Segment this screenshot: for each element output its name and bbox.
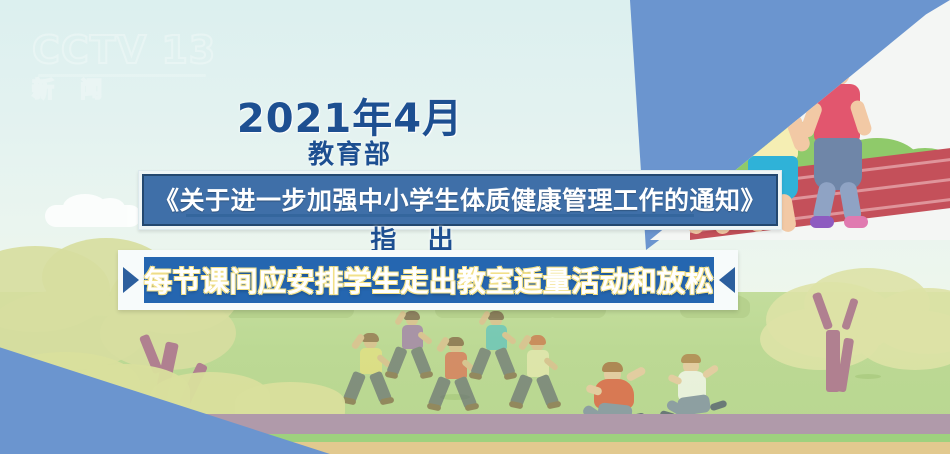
- document-title-text: 《关于进一步加强中小学生体质健康管理工作的通知》: [142, 174, 778, 226]
- headline-department: 教育部: [0, 134, 700, 171]
- arrow-right-triangle-icon: [118, 250, 144, 310]
- news-graphic-screen: CCTV 13 新 闻 2021年4月 教育部 《关于进一步加强中小学生体质健康…: [0, 0, 950, 454]
- key-message-bar: 每节课间应安排学生走出教室适量活动和放松: [144, 257, 714, 303]
- arrow-left-triangle-icon: [714, 250, 740, 310]
- key-message-text: 每节课间应安排学生走出教室适量活动和放松: [144, 260, 714, 300]
- key-message-banner: 每节课间应安排学生走出教室适量活动和放松: [118, 250, 738, 310]
- document-title-underline: [186, 214, 694, 217]
- tree-right: [760, 268, 950, 418]
- stretching-figures-illustration: [344, 312, 574, 418]
